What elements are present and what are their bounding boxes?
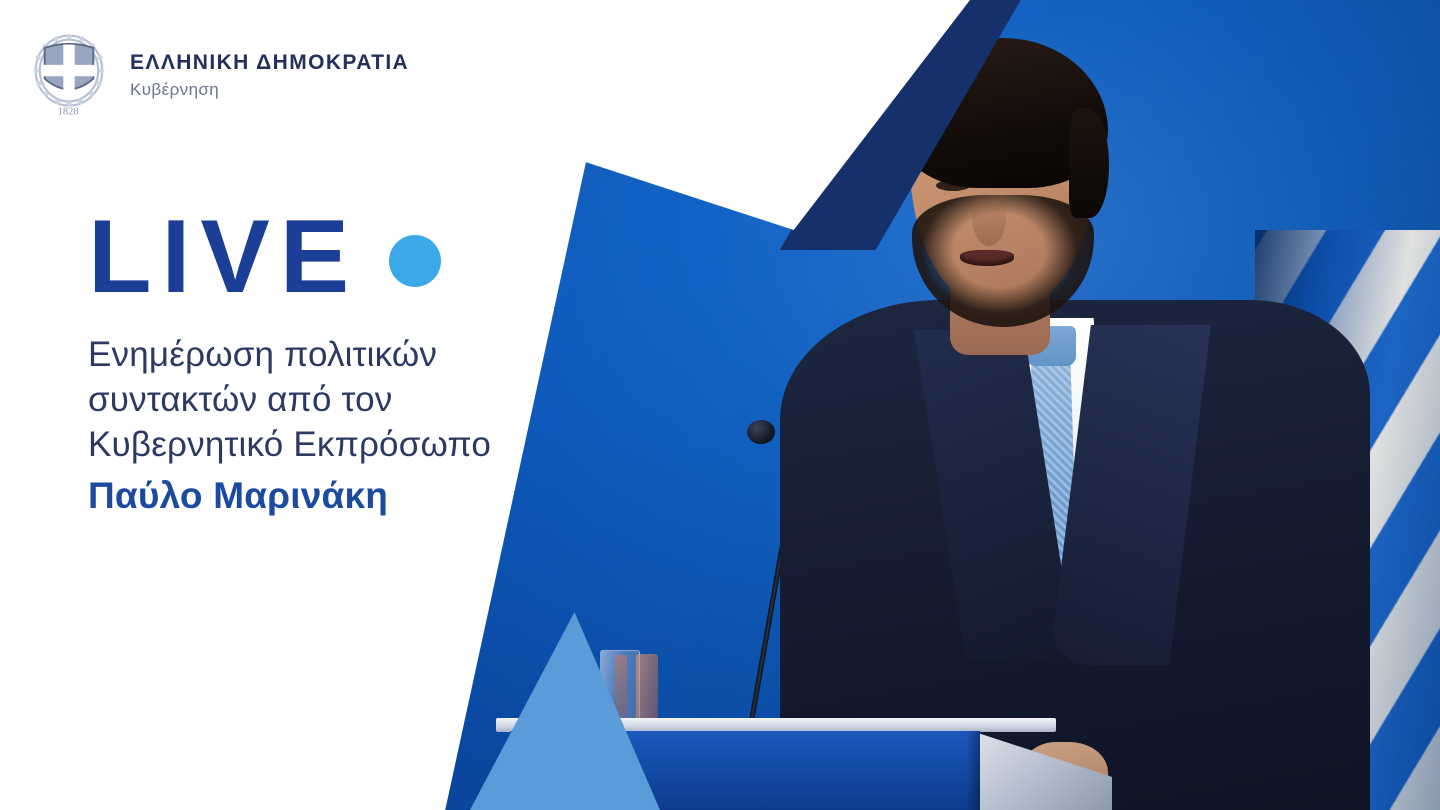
- live-indicator-dot-icon: [389, 235, 441, 287]
- nose: [972, 190, 1006, 246]
- mouth: [960, 250, 1014, 266]
- broadcast-subtitle: Ενημέρωση πολιτικών συντακτών από τον Κυ…: [88, 333, 648, 467]
- subtitle-line-3: Κυβερνητικό Εκπρόσωπο: [88, 423, 648, 468]
- organization-subdivision: Κυβέρνηση: [130, 80, 409, 100]
- microphone-head: [747, 420, 775, 444]
- live-row: LIVE: [88, 205, 648, 309]
- live-label: LIVE: [88, 205, 359, 309]
- water-bottle: [636, 654, 658, 722]
- live-broadcast-banner: 1828 ΕΛΛΗΝΙΚΗ ΔΗΜΟΚΡΑΤΙΑ Κυβέρνηση LIVE …: [0, 0, 1440, 810]
- subtitle-line-1: Ενημέρωση πολιτικών: [88, 333, 648, 378]
- logo-text-block: ΕΛΛΗΝΙΚΗ ΔΗΜΟΚΡΑΤΙΑ Κυβέρνηση: [130, 47, 409, 100]
- svg-text:1828: 1828: [58, 106, 79, 116]
- hair-sideburn: [1069, 108, 1109, 218]
- live-title-block: LIVE Ενημέρωση πολιτικών συντακτών από τ…: [88, 205, 648, 517]
- organization-name: ΕΛΛΗΝΙΚΗ ΔΗΜΟΚΡΑΤΙΑ: [130, 51, 409, 75]
- greek-coat-of-arms-icon: 1828: [28, 30, 110, 116]
- subtitle-line-2: συντακτών από τον: [88, 378, 648, 423]
- speaker-name: Παύλο Μαρινάκη: [88, 475, 648, 517]
- government-logo-header: 1828 ΕΛΛΗΝΙΚΗ ΔΗΜΟΚΡΑΤΙΑ Κυβέρνηση: [28, 30, 409, 116]
